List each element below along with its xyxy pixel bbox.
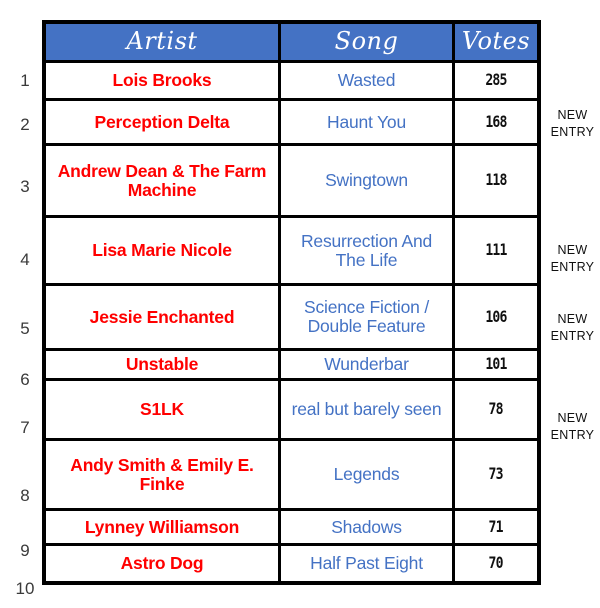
column-header-votes: Votes [455, 24, 537, 60]
artist-name: Lynney Williamson [85, 518, 239, 537]
cell-artist: S1LK [46, 381, 281, 438]
table-row[interactable]: Lois BrooksWasted285 [46, 63, 537, 101]
table-row[interactable]: Andrew Dean & The Farm MachineSwingtown1… [46, 146, 537, 218]
new-entry-line1: NEW [557, 311, 587, 328]
song-title: Legends [334, 465, 400, 484]
new-entry-line1: NEW [557, 107, 587, 124]
rank-number: 5 [8, 295, 42, 363]
new-entry-flag-column: NEWENTRYNEWENTRYNEWENTRYNEWENTRY [545, 20, 600, 607]
song-title: Shadows [331, 518, 402, 537]
cell-votes: 168 [455, 101, 537, 143]
votes-count: 70 [489, 555, 503, 572]
flag-empty [545, 569, 600, 607]
artist-name: S1LK [140, 400, 184, 419]
flag-empty [545, 531, 600, 569]
rank-number: 9 [8, 532, 42, 570]
table-row[interactable]: S1LKreal but barely seen78 [46, 381, 537, 441]
cell-song: Resurrection And The Life [281, 218, 455, 283]
new-entry-badge: NEWENTRY [545, 395, 600, 458]
cell-votes: 106 [455, 286, 537, 348]
table-row[interactable]: UnstableWunderbar101 [46, 351, 537, 381]
song-title: Wunderbar [324, 355, 408, 374]
new-entry-line2: ENTRY [551, 124, 595, 141]
cell-artist: Andy Smith & Emily E. Finke [46, 441, 281, 508]
flag-empty [545, 458, 600, 531]
song-title: Swingtown [325, 171, 408, 190]
song-title: Haunt You [327, 113, 406, 132]
song-title: Resurrection And The Life [285, 232, 448, 269]
artist-name: Jessie Enchanted [90, 308, 235, 327]
cell-song: Wasted [281, 63, 455, 98]
song-title: Wasted [338, 71, 395, 90]
flag-header-spacer [545, 20, 600, 59]
chart-table: Artist Song Votes Lois BrooksWasted285Pe… [42, 20, 541, 585]
new-entry-line2: ENTRY [551, 259, 595, 276]
cell-song: Legends [281, 441, 455, 508]
rank-number: 10 [8, 570, 42, 608]
artist-name: Astro Dog [121, 554, 204, 573]
flag-empty [545, 148, 600, 223]
column-header-song: Song [281, 24, 455, 60]
cell-song: Haunt You [281, 101, 455, 143]
cell-votes: 78 [455, 381, 537, 438]
artist-name: Lois Brooks [113, 71, 212, 90]
votes-count: 285 [485, 72, 506, 89]
song-title: Science Fiction / Double Feature [285, 298, 448, 335]
cell-song: Swingtown [281, 146, 455, 215]
cell-artist: Jessie Enchanted [46, 286, 281, 348]
cell-artist: Lisa Marie Nicole [46, 218, 281, 283]
votes-count: 168 [485, 114, 506, 131]
music-chart-table-page: 12345678910 Artist Song Votes Lois Brook… [0, 0, 600, 600]
table-row[interactable]: Lynney WilliamsonShadows71 [46, 511, 537, 546]
cell-artist: Lois Brooks [46, 63, 281, 98]
table-header-row: Artist Song Votes [46, 24, 537, 63]
new-entry-line2: ENTRY [551, 328, 595, 345]
cell-song: Science Fiction / Double Feature [281, 286, 455, 348]
cell-votes: 70 [455, 546, 537, 581]
rank-number: 2 [8, 101, 42, 149]
column-header-artist: Artist [46, 24, 281, 60]
artist-name: Unstable [126, 355, 198, 374]
new-entry-badge: NEWENTRY [545, 100, 600, 148]
table-row[interactable]: Jessie EnchantedScience Fiction / Double… [46, 286, 537, 351]
rank-number: 6 [8, 363, 42, 396]
cell-votes: 111 [455, 218, 537, 283]
rank-number: 1 [8, 60, 42, 101]
artist-name: Perception Delta [95, 113, 230, 132]
rank-number: 3 [8, 149, 42, 224]
cell-votes: 73 [455, 441, 537, 508]
cell-votes: 285 [455, 63, 537, 98]
song-title: Half Past Eight [310, 554, 423, 573]
new-entry-line1: NEW [557, 410, 587, 427]
rank-number: 4 [8, 224, 42, 295]
rank-number: 7 [8, 396, 42, 459]
votes-count: 118 [485, 172, 506, 189]
cell-votes: 101 [455, 351, 537, 378]
votes-count: 101 [485, 356, 506, 373]
artist-name: Andrew Dean & The Farm Machine [50, 162, 274, 199]
new-entry-badge: NEWENTRY [545, 223, 600, 294]
song-title: real but barely seen [292, 400, 442, 419]
cell-song: Half Past Eight [281, 546, 455, 581]
cell-song: real but barely seen [281, 381, 455, 438]
votes-count: 73 [489, 466, 503, 483]
cell-artist: Astro Dog [46, 546, 281, 581]
cell-votes: 118 [455, 146, 537, 215]
votes-count: 71 [489, 519, 503, 536]
cell-votes: 71 [455, 511, 537, 543]
new-entry-line2: ENTRY [551, 427, 595, 444]
flag-empty [545, 362, 600, 395]
cell-song: Shadows [281, 511, 455, 543]
table-row[interactable]: Astro DogHalf Past Eight70 [46, 546, 537, 581]
flag-empty [545, 59, 600, 100]
artist-name: Lisa Marie Nicole [92, 241, 232, 260]
votes-count: 111 [485, 242, 506, 259]
table-row[interactable]: Lisa Marie NicoleResurrection And The Li… [46, 218, 537, 286]
cell-song: Wunderbar [281, 351, 455, 378]
votes-count: 106 [485, 309, 506, 326]
cell-artist: Andrew Dean & The Farm Machine [46, 146, 281, 215]
votes-count: 78 [489, 401, 503, 418]
new-entry-badge: NEWENTRY [545, 294, 600, 362]
cell-artist: Lynney Williamson [46, 511, 281, 543]
artist-name: Andy Smith & Emily E. Finke [50, 456, 274, 493]
new-entry-line1: NEW [557, 242, 587, 259]
rank-column: 12345678910 [8, 60, 42, 608]
rank-number: 8 [8, 459, 42, 532]
table-row[interactable]: Andy Smith & Emily E. FinkeLegends73 [46, 441, 537, 511]
table-row[interactable]: Perception DeltaHaunt You168 [46, 101, 537, 146]
cell-artist: Perception Delta [46, 101, 281, 143]
cell-artist: Unstable [46, 351, 281, 378]
